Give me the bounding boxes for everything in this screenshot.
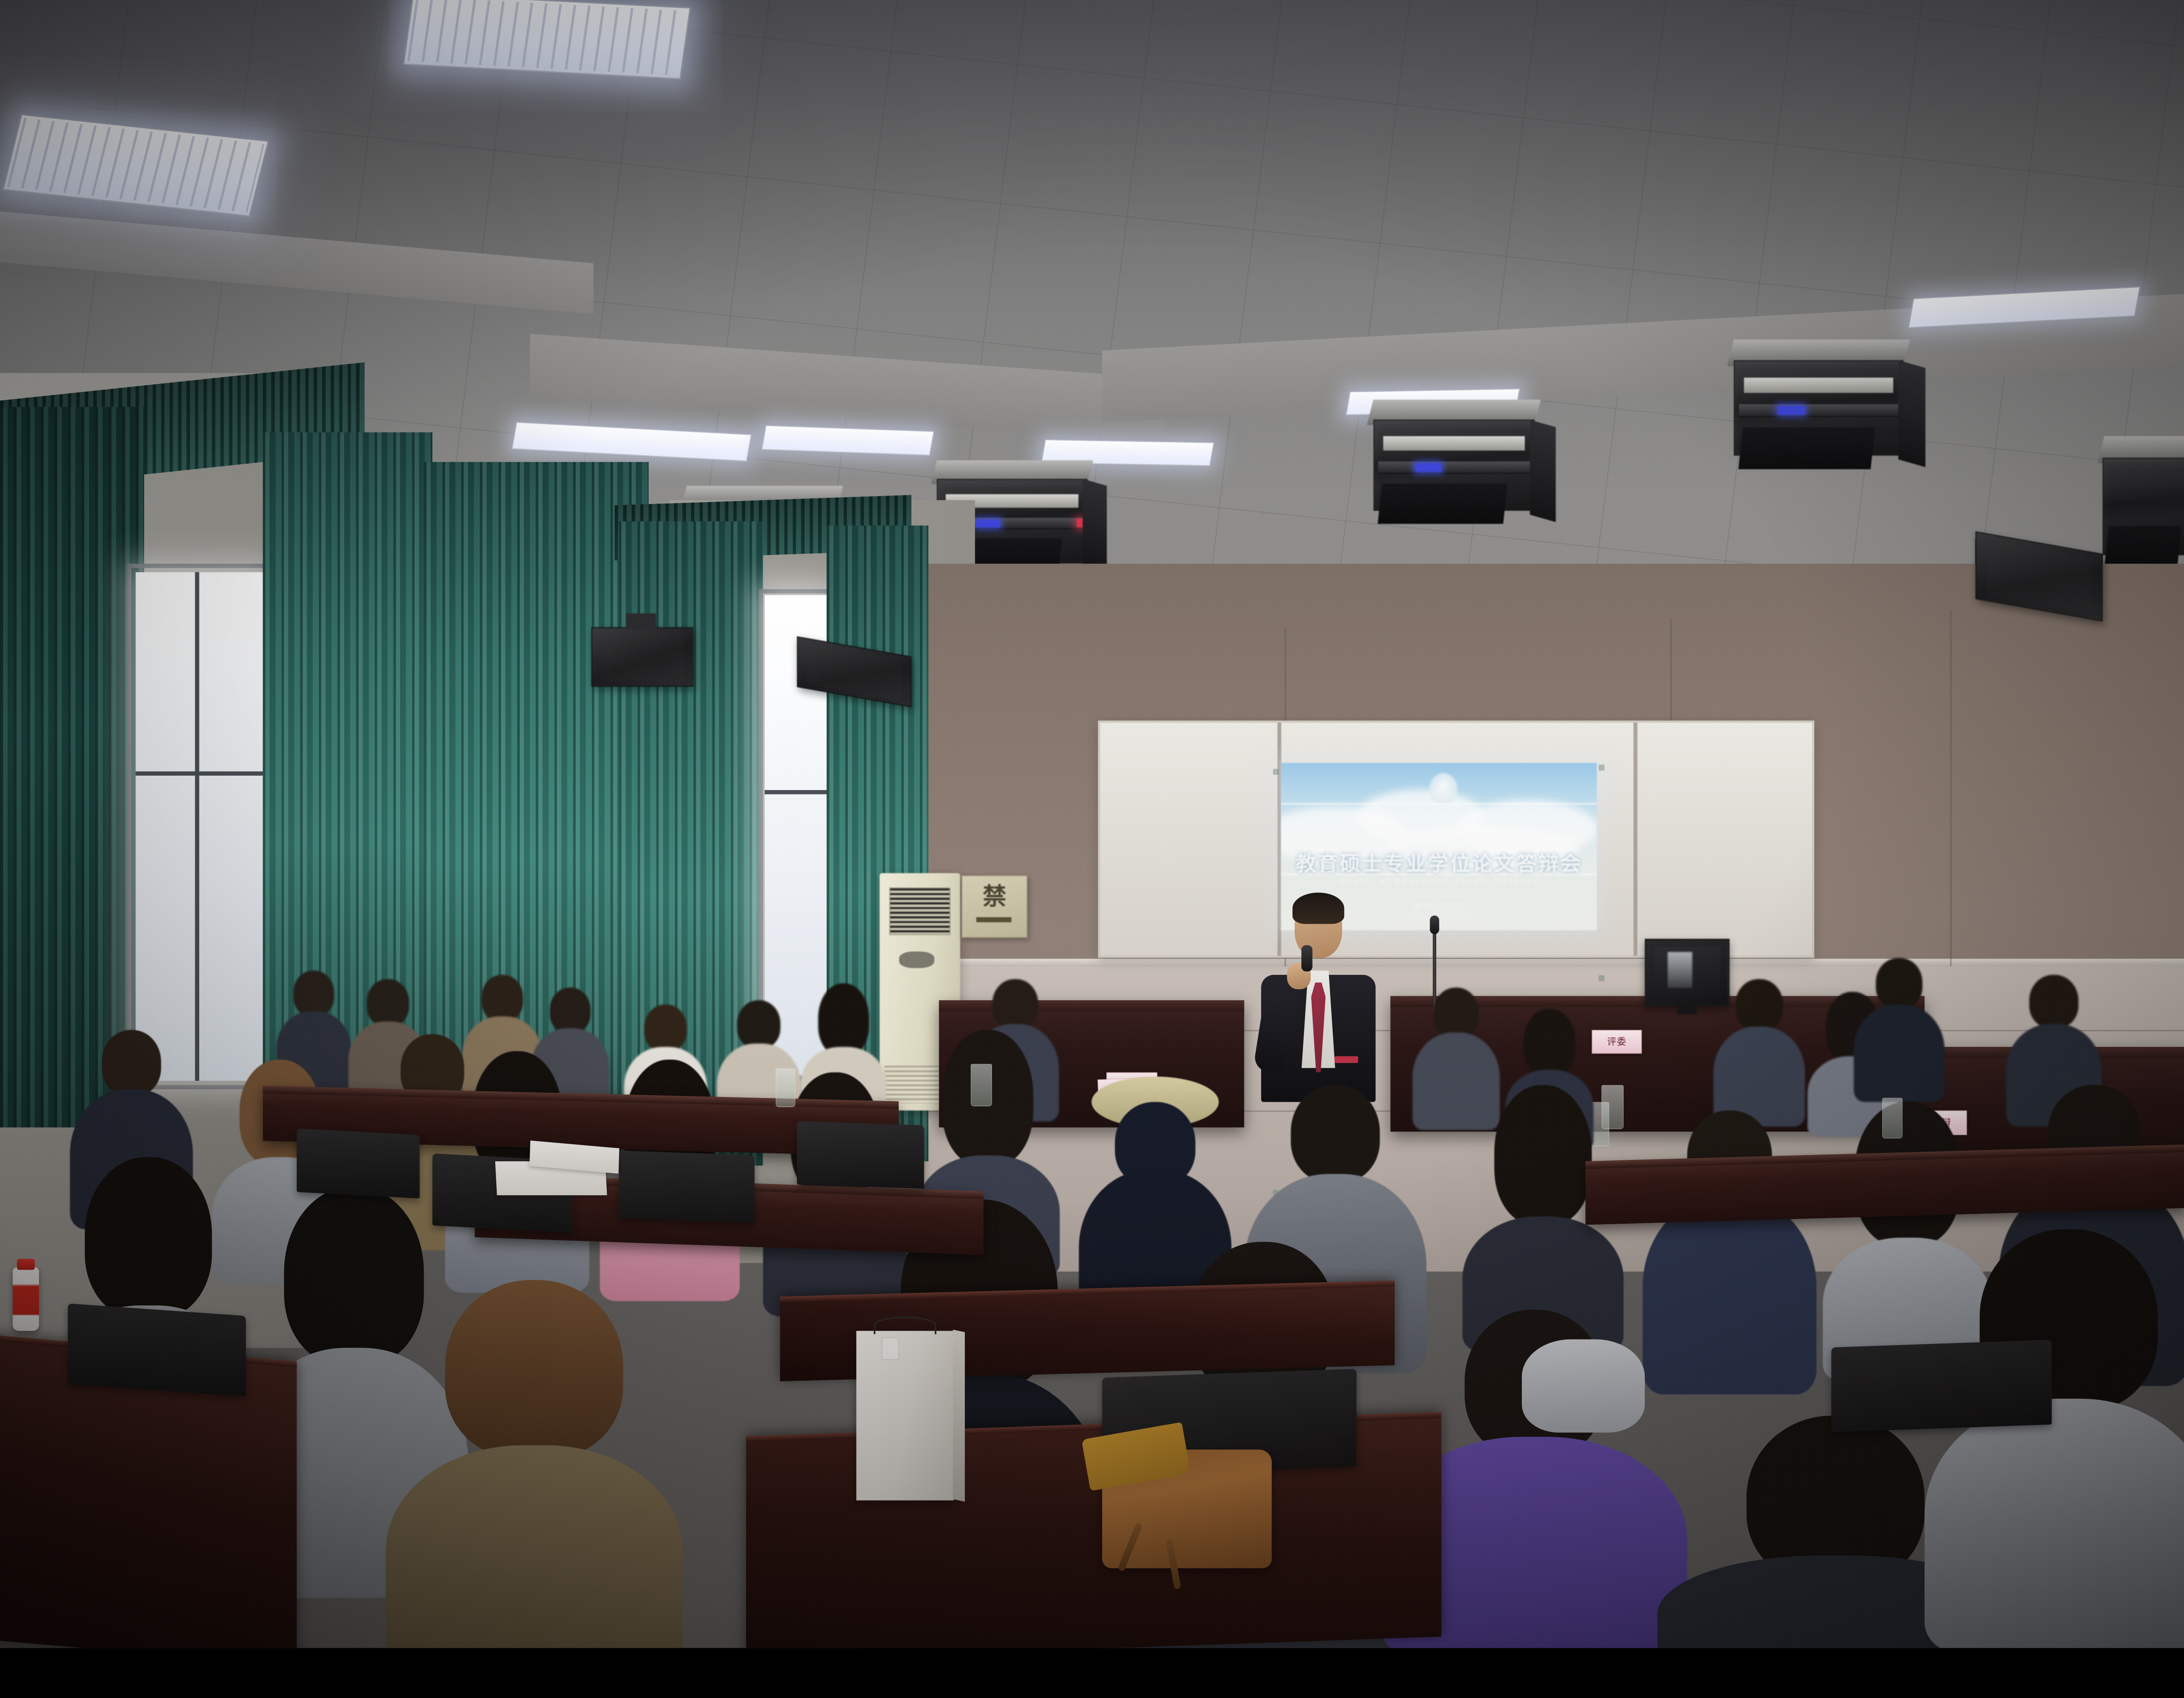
iwb-button-icon[interactable]: [1273, 769, 1279, 775]
ac-led-indicator: [1415, 463, 1441, 472]
plaque-glyph: 禁: [979, 885, 1010, 911]
audience-person: [1857, 958, 1942, 1097]
water-bottle[interactable]: [13, 1267, 39, 1331]
water-cup-on-desk[interactable]: [971, 1064, 992, 1106]
handbag-strap[interactable]: [1117, 1522, 1143, 1572]
paper-gift-bag[interactable]: [856, 1331, 954, 1500]
audience-person: [1717, 979, 1802, 1123]
name-card: 评委: [1592, 1030, 1642, 1053]
water-cup-on-desk[interactable]: [776, 1068, 795, 1107]
wall-plaque: 禁: [961, 875, 1027, 938]
chair-back: [297, 1129, 419, 1198]
ac-led-indicator: [976, 520, 1000, 527]
handheld-microphone-icon: [1301, 945, 1312, 971]
audience-person: [1942, 1229, 2184, 1648]
lecture-hall-photo: 教育硕士专业学位论文答辩会 Master of Education Thesis…: [0, 0, 2184, 1648]
chair-back: [1832, 1340, 2052, 1432]
bag-handle[interactable]: [874, 1316, 936, 1334]
bottle-cap[interactable]: [17, 1259, 35, 1270]
audience-person: [407, 1280, 661, 1648]
ac-vent-grill: [889, 887, 950, 935]
iwb-button-icon[interactable]: [1599, 765, 1605, 771]
wall-speaker-left: [591, 627, 693, 687]
ac-brand-logo: [899, 952, 934, 968]
water-cup-on-desk[interactable]: [1602, 1085, 1624, 1129]
slide-org-line1: 教育科学学院: [1413, 901, 1464, 910]
plaque-bar: [976, 917, 1011, 923]
curtain-left-far: [0, 407, 144, 1128]
presenter-pocket-square: [1334, 1056, 1358, 1063]
chair-back: [619, 1150, 755, 1223]
window-left: [136, 572, 263, 1081]
iwb-button-icon[interactable]: [1599, 975, 1605, 981]
bag-tag: [881, 1338, 898, 1360]
ceiling-ac-unit-3: [1373, 420, 1534, 511]
whiteboard-panel-right: [1638, 723, 1812, 956]
presenter-hair: [1292, 893, 1344, 924]
water-cup-on-desk[interactable]: [1882, 1098, 1903, 1139]
chair-back: [68, 1304, 246, 1397]
whiteboard-panel-left: [1100, 723, 1277, 956]
ceiling-ac-unit-4: [1734, 360, 1903, 456]
slide-emblem-icon: [1430, 773, 1458, 804]
audience-person: [1653, 1111, 1806, 1391]
leather-handbag[interactable]: [1102, 1450, 1272, 1568]
wall-seam: [1950, 611, 1952, 966]
ceiling-ac-unit-5: [2103, 458, 2184, 555]
microphone-head-icon: [1430, 915, 1439, 934]
ac-led-indicator: [1778, 406, 1805, 415]
chair-back: [797, 1121, 924, 1189]
hoodie-hood: [1522, 1339, 1645, 1433]
whiteboard-seam-right: [1633, 723, 1638, 956]
